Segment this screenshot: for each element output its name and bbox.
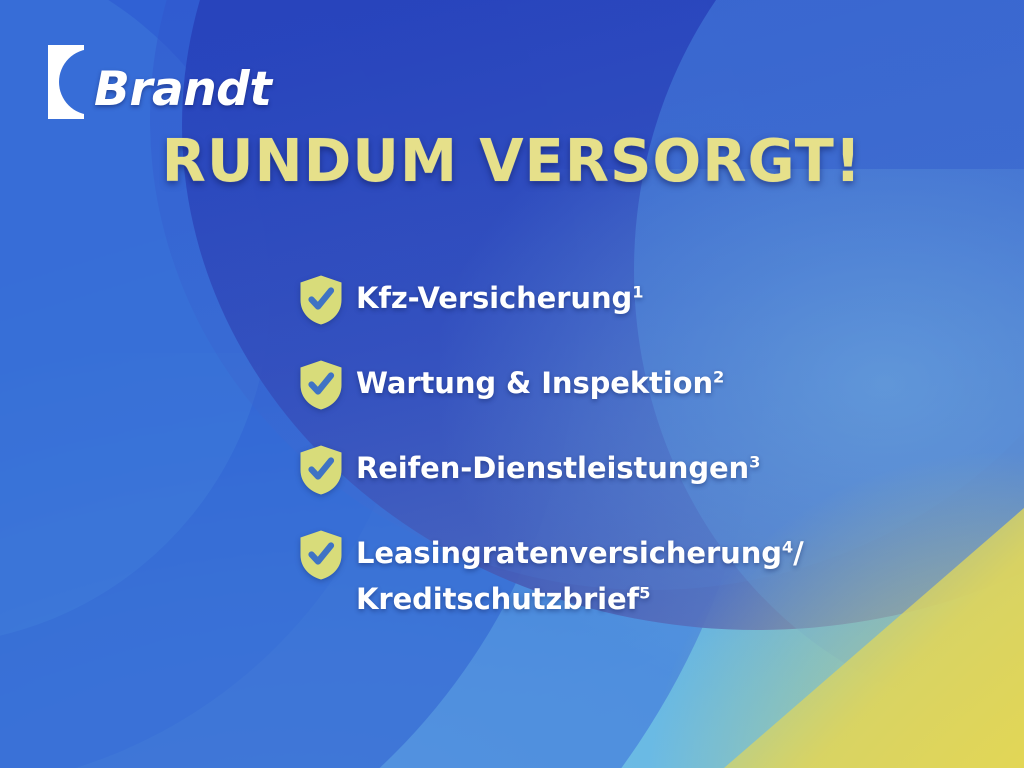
shield-check-icon	[298, 444, 344, 496]
brandt-bar-circle-mark	[46, 44, 90, 120]
list-item-label: Kfz-Versicherung1	[356, 272, 958, 320]
list-item-label-line-2: Kreditschutzbrief5	[356, 577, 958, 621]
shield-check-icon	[298, 274, 344, 326]
benefit-list: Kfz-Versicherung1 Wartung & Inspektion2 …	[298, 272, 958, 621]
shield-check-icon	[298, 529, 344, 581]
shield-check-icon	[298, 359, 344, 411]
list-item-label: Reifen-Dienstleistungen3	[356, 442, 958, 490]
list-item-label: Leasingratenversicherung4/Kreditschutzbr…	[356, 527, 958, 621]
promo-banner: Brandt RUNDUM VERSORGT! Kfz-Versicherung…	[0, 0, 1024, 768]
list-item-label: Wartung & Inspektion2	[356, 357, 958, 405]
banner-content: Brandt RUNDUM VERSORGT! Kfz-Versicherung…	[0, 0, 1024, 768]
brand-wordmark: Brandt	[94, 66, 271, 113]
list-item: Kfz-Versicherung1	[298, 272, 958, 342]
list-item: Wartung & Inspektion2	[298, 357, 958, 427]
list-item: Reifen-Dienstleistungen3	[298, 442, 958, 512]
brand-logo: Brandt	[46, 44, 271, 120]
list-item: Leasingratenversicherung4/Kreditschutzbr…	[298, 527, 958, 621]
page-title: RUNDUM VERSORGT!	[15, 131, 1008, 190]
